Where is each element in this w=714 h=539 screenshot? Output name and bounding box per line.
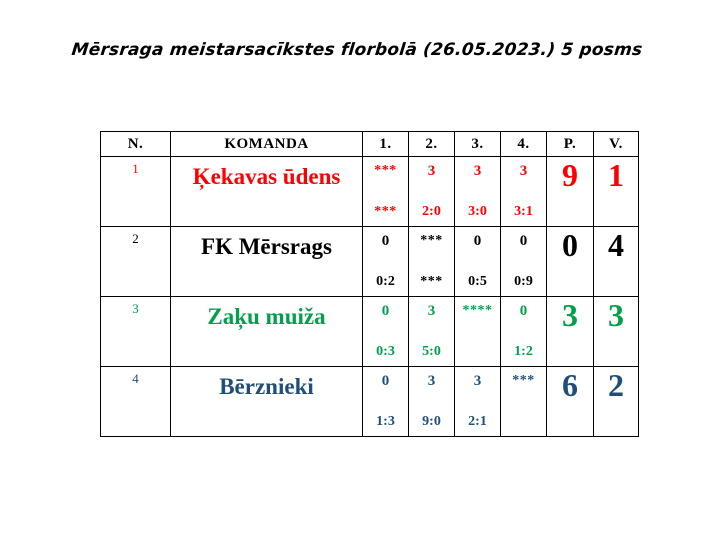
match-cell: 0 0:2 <box>363 227 409 297</box>
match-cell: *** *** <box>409 227 455 297</box>
match-result: 0 <box>455 227 500 249</box>
match-cell: 3 2:0 <box>409 157 455 227</box>
match-score: *** <box>409 275 454 289</box>
header-col-3: 3. <box>455 132 501 157</box>
wins-value: 4 <box>594 227 639 297</box>
header-wins: V. <box>594 132 639 157</box>
row-number: 1 <box>101 157 171 227</box>
match-cell: 3 5:0 <box>409 297 455 367</box>
match-result: 3 <box>455 367 500 389</box>
match-cell: 0 0:9 <box>501 227 547 297</box>
match-result: 0 <box>501 297 546 319</box>
match-score: 1:2 <box>501 345 546 359</box>
match-result: **** <box>455 297 500 318</box>
match-cell: 0 0:5 <box>455 227 501 297</box>
wins-value: 1 <box>594 157 639 227</box>
match-score: 3:1 <box>501 205 546 219</box>
standings-table: N. KOMANDA 1. 2. 3. 4. P. V. 1 Ķekavas ū… <box>100 131 639 437</box>
match-result: *** <box>363 157 408 178</box>
match-cell: 0 1:3 <box>363 367 409 437</box>
match-score: 0:9 <box>501 275 546 289</box>
match-result: 3 <box>501 157 546 179</box>
header-col-2: 2. <box>409 132 455 157</box>
header-team: KOMANDA <box>171 132 363 157</box>
header-col-1: 1. <box>363 132 409 157</box>
match-result: 3 <box>409 367 454 389</box>
match-result: 0 <box>363 367 408 389</box>
table-row: 1 Ķekavas ūdens *** *** 3 2:0 3 3:0 3 3:… <box>101 157 639 227</box>
wins-value: 3 <box>594 297 639 367</box>
match-cell: 3 3:1 <box>501 157 547 227</box>
match-score: 5:0 <box>409 345 454 359</box>
match-score: 0:2 <box>363 275 408 289</box>
team-name: Bērznieki <box>171 367 363 437</box>
match-cell: 3 9:0 <box>409 367 455 437</box>
match-score: 2:1 <box>455 415 500 429</box>
points-value: 0 <box>547 227 594 297</box>
points-value: 9 <box>547 157 594 227</box>
match-result: 0 <box>363 297 408 319</box>
table-header: N. KOMANDA 1. 2. 3. 4. P. V. <box>101 132 639 157</box>
match-cell: 3 3:0 <box>455 157 501 227</box>
match-score: 0:3 <box>363 345 408 359</box>
team-name: Zaķu muiža <box>171 297 363 367</box>
match-cell: *** *** <box>363 157 409 227</box>
row-number: 3 <box>101 297 171 367</box>
match-result: 3 <box>409 157 454 179</box>
team-name: Ķekavas ūdens <box>171 157 363 227</box>
match-score: 0:5 <box>455 275 500 289</box>
match-score: 9:0 <box>409 415 454 429</box>
header-col-4: 4. <box>501 132 547 157</box>
page-title: Mērsraga meistarsacīkstes florbolā (26.0… <box>0 40 714 60</box>
match-cell: 3 2:1 <box>455 367 501 437</box>
header-points: P. <box>547 132 594 157</box>
match-score: 3:0 <box>455 205 500 219</box>
match-score: 2:0 <box>409 205 454 219</box>
wins-value: 2 <box>594 367 639 437</box>
slide-canvas: Mērsraga meistarsacīkstes florbolā (26.0… <box>0 0 714 539</box>
match-result: *** <box>409 227 454 248</box>
match-result: 0 <box>501 227 546 249</box>
table-body: 1 Ķekavas ūdens *** *** 3 2:0 3 3:0 3 3:… <box>101 157 639 437</box>
match-cell: 0 0:3 <box>363 297 409 367</box>
row-number: 4 <box>101 367 171 437</box>
table-row: 3 Zaķu muiža 0 0:3 3 5:0 **** 0 1:2 <box>101 297 639 367</box>
match-cell: *** <box>501 367 547 437</box>
match-result: *** <box>501 367 546 388</box>
match-score: 1:3 <box>363 415 408 429</box>
match-result: 3 <box>409 297 454 319</box>
points-value: 3 <box>547 297 594 367</box>
points-value: 6 <box>547 367 594 437</box>
row-number: 2 <box>101 227 171 297</box>
match-cell: **** <box>455 297 501 367</box>
header-row: N. KOMANDA 1. 2. 3. 4. P. V. <box>101 132 639 157</box>
team-name: FK Mērsrags <box>171 227 363 297</box>
match-result: 3 <box>455 157 500 179</box>
match-score: *** <box>363 205 408 219</box>
match-result: 0 <box>363 227 408 249</box>
table-row: 2 FK Mērsrags 0 0:2 *** *** 0 0:5 0 0:9 <box>101 227 639 297</box>
table-row: 4 Bērznieki 0 1:3 3 9:0 3 2:1 *** <box>101 367 639 437</box>
header-number: N. <box>101 132 171 157</box>
match-cell: 0 1:2 <box>501 297 547 367</box>
